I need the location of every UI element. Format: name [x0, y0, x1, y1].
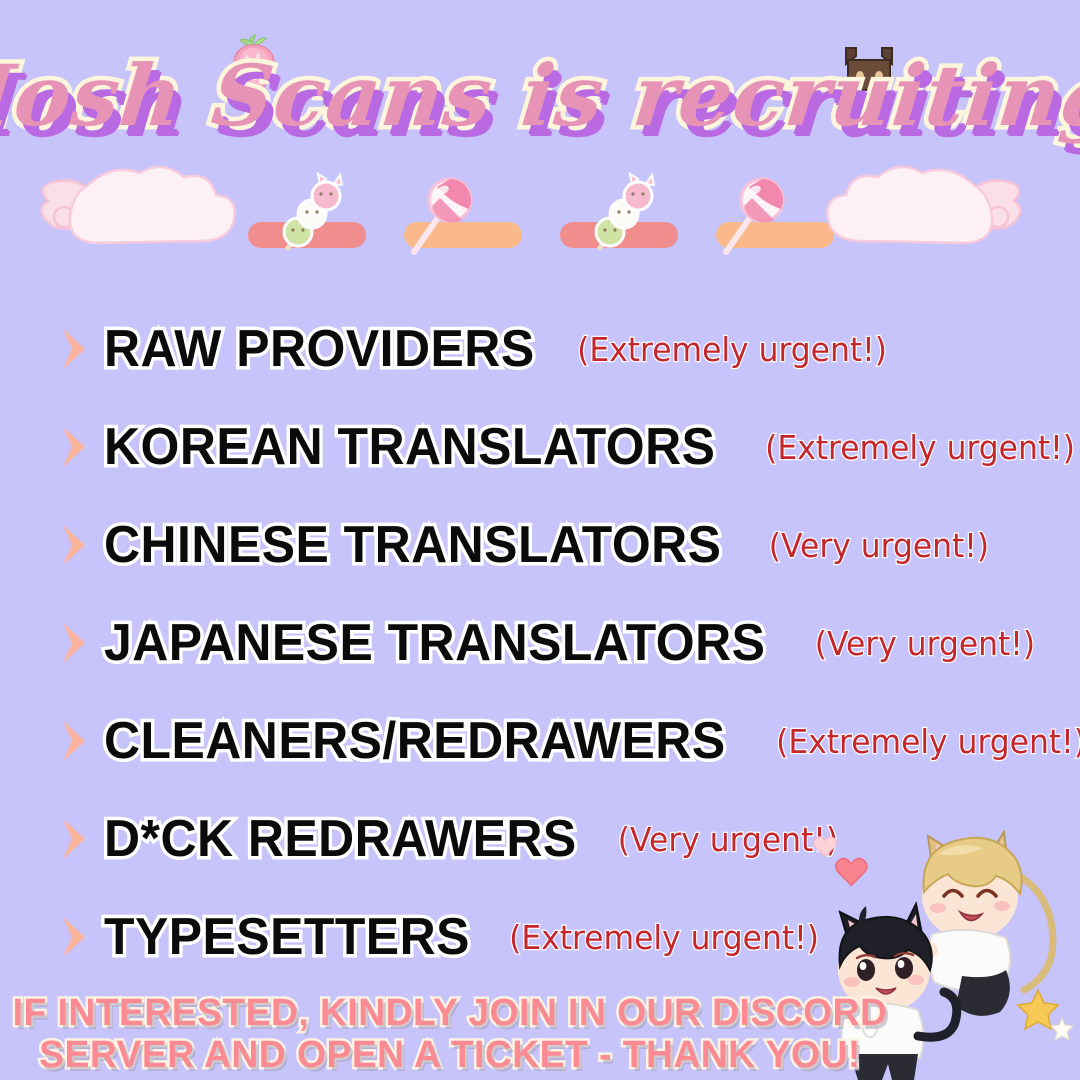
- role-title: CHINESE TRANSLATORS: [104, 519, 721, 571]
- role-urgency-note: (Extremely urgent!): [765, 431, 1075, 464]
- footer-line-1: IF INTERESTED, KINDLY JOIN IN OUR DISCOR…: [9, 992, 891, 1034]
- role-row: JAPANESE TRANSLATORS (Very urgent!): [0, 594, 1080, 692]
- poster-title: Mosh Scans is recruiting!: [0, 54, 1080, 138]
- recruitment-poster: Mosh Scans is recruiting!: [0, 0, 1080, 1080]
- heart-icon: [814, 837, 867, 886]
- role-urgency-note: (Very urgent!): [618, 823, 838, 856]
- role-urgency-note: (Extremely urgent!): [577, 333, 887, 366]
- role-row: CHINESE TRANSLATORS (Very urgent!): [0, 496, 1080, 594]
- role-urgency-note: (Very urgent!): [769, 529, 989, 562]
- role-title: RAW PROVIDERS: [104, 323, 535, 375]
- star-icon: [1018, 990, 1073, 1040]
- role-row: CLEANERS/REDRAWERS (Extremely urgent!): [0, 692, 1080, 790]
- chevron-right-icon: [58, 423, 92, 471]
- chevron-right-icon: [58, 913, 92, 961]
- poster-title-wrap: Mosh Scans is recruiting!: [0, 26, 1080, 166]
- footer-line-2: SERVER AND OPEN A TICKET - THANK YOU!: [9, 1034, 891, 1076]
- role-title: KOREAN TRANSLATORS: [104, 421, 715, 473]
- role-urgency-note: (Very urgent!): [815, 627, 1035, 660]
- chevron-right-icon: [58, 521, 92, 569]
- chevron-right-icon: [58, 815, 92, 863]
- role-urgency-note: (Extremely urgent!): [776, 725, 1080, 758]
- chevron-right-icon: [58, 619, 92, 667]
- chevron-right-icon: [58, 325, 92, 373]
- role-urgency-note: (Extremely urgent!): [509, 921, 819, 954]
- role-row: KOREAN TRANSLATORS (Extremely urgent!): [0, 398, 1080, 496]
- footer-call-to-action: IF INTERESTED, KINDLY JOIN IN OUR DISCOR…: [0, 992, 900, 1076]
- role-title: TYPESETTERS: [104, 911, 470, 963]
- role-title: JAPANESE TRANSLATORS: [104, 617, 765, 669]
- chevron-right-icon: [58, 717, 92, 765]
- role-title: CLEANERS/REDRAWERS: [104, 715, 726, 767]
- role-row: RAW PROVIDERS (Extremely urgent!): [0, 300, 1080, 398]
- role-title: D*CK REDRAWERS: [104, 813, 577, 865]
- decorative-divider: [0, 160, 1080, 290]
